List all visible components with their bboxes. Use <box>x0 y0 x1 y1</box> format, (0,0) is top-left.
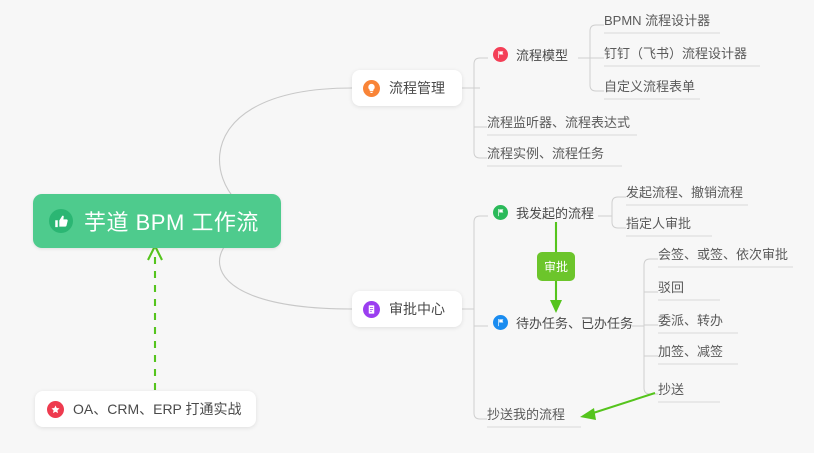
leaf-cc[interactable]: 抄送 <box>651 381 691 402</box>
leaf-bpmn-designer[interactable]: BPMN 流程设计器 <box>597 12 717 33</box>
thumbs-up-icon <box>49 209 73 233</box>
flag-icon <box>493 205 508 220</box>
footer-note-label: OA、CRM、ERP 打通实战 <box>73 399 242 419</box>
arrow-note-to-root <box>148 246 162 390</box>
node-todo-done-tasks[interactable]: 待办任务、已办任务 <box>493 311 633 333</box>
mindmap-canvas: 芋道 BPM 工作流 流程管理 审批中心 流程模型 <box>0 0 814 453</box>
wire-flow-to-model <box>474 58 488 64</box>
flag-icon <box>493 315 508 330</box>
branch-approval-center[interactable]: 审批中心 <box>352 291 462 327</box>
branch-flow-management-label: 流程管理 <box>389 78 445 98</box>
root-node[interactable]: 芋道 BPM 工作流 <box>33 194 281 248</box>
star-icon <box>47 401 64 418</box>
annotation-approval-tag: 审批 <box>537 252 575 281</box>
leaf-delegate-transfer[interactable]: 委派、转办 <box>651 312 730 333</box>
branch-approval-center-label: 审批中心 <box>389 299 445 319</box>
leaf-assignee-approval[interactable]: 指定人审批 <box>619 215 698 236</box>
node-process-model[interactable]: 流程模型 <box>493 43 568 65</box>
flag-icon <box>493 47 508 62</box>
branch-flow-management[interactable]: 流程管理 <box>352 70 462 106</box>
node-process-model-label: 流程模型 <box>516 45 568 64</box>
leaf-reject[interactable]: 驳回 <box>651 279 691 300</box>
wire-approval-to-mine <box>474 216 488 222</box>
leaf-dingtalk-feishu-designer[interactable]: 钉钉（飞书）流程设计器 <box>597 45 754 66</box>
leaf-cc-to-me[interactable]: 抄送我的流程 <box>480 406 572 427</box>
lightbulb-icon <box>363 80 380 97</box>
root-label: 芋道 BPM 工作流 <box>84 205 259 237</box>
footer-note-card[interactable]: OA、CRM、ERP 打通实战 <box>35 391 256 427</box>
leaf-custom-process-form[interactable]: 自定义流程表单 <box>597 78 702 99</box>
leaf-start-cancel-process[interactable]: 发起流程、撤销流程 <box>619 184 750 205</box>
node-todo-done-tasks-label: 待办任务、已办任务 <box>516 313 633 332</box>
arrow-cc-link <box>580 393 655 420</box>
annotation-approval-tag-label: 审批 <box>544 258 568 275</box>
leaf-process-listener-expression[interactable]: 流程监听器、流程表达式 <box>480 114 637 135</box>
node-my-initiated-label: 我发起的流程 <box>516 203 594 222</box>
node-my-initiated[interactable]: 我发起的流程 <box>493 201 594 223</box>
clipboard-icon <box>363 301 380 318</box>
leaf-process-instance-task[interactable]: 流程实例、流程任务 <box>480 145 611 166</box>
leaf-add-remove-sign[interactable]: 加签、减签 <box>651 343 730 364</box>
leaf-countersign-orsign-sequential[interactable]: 会签、或签、依次审批 <box>651 246 795 267</box>
